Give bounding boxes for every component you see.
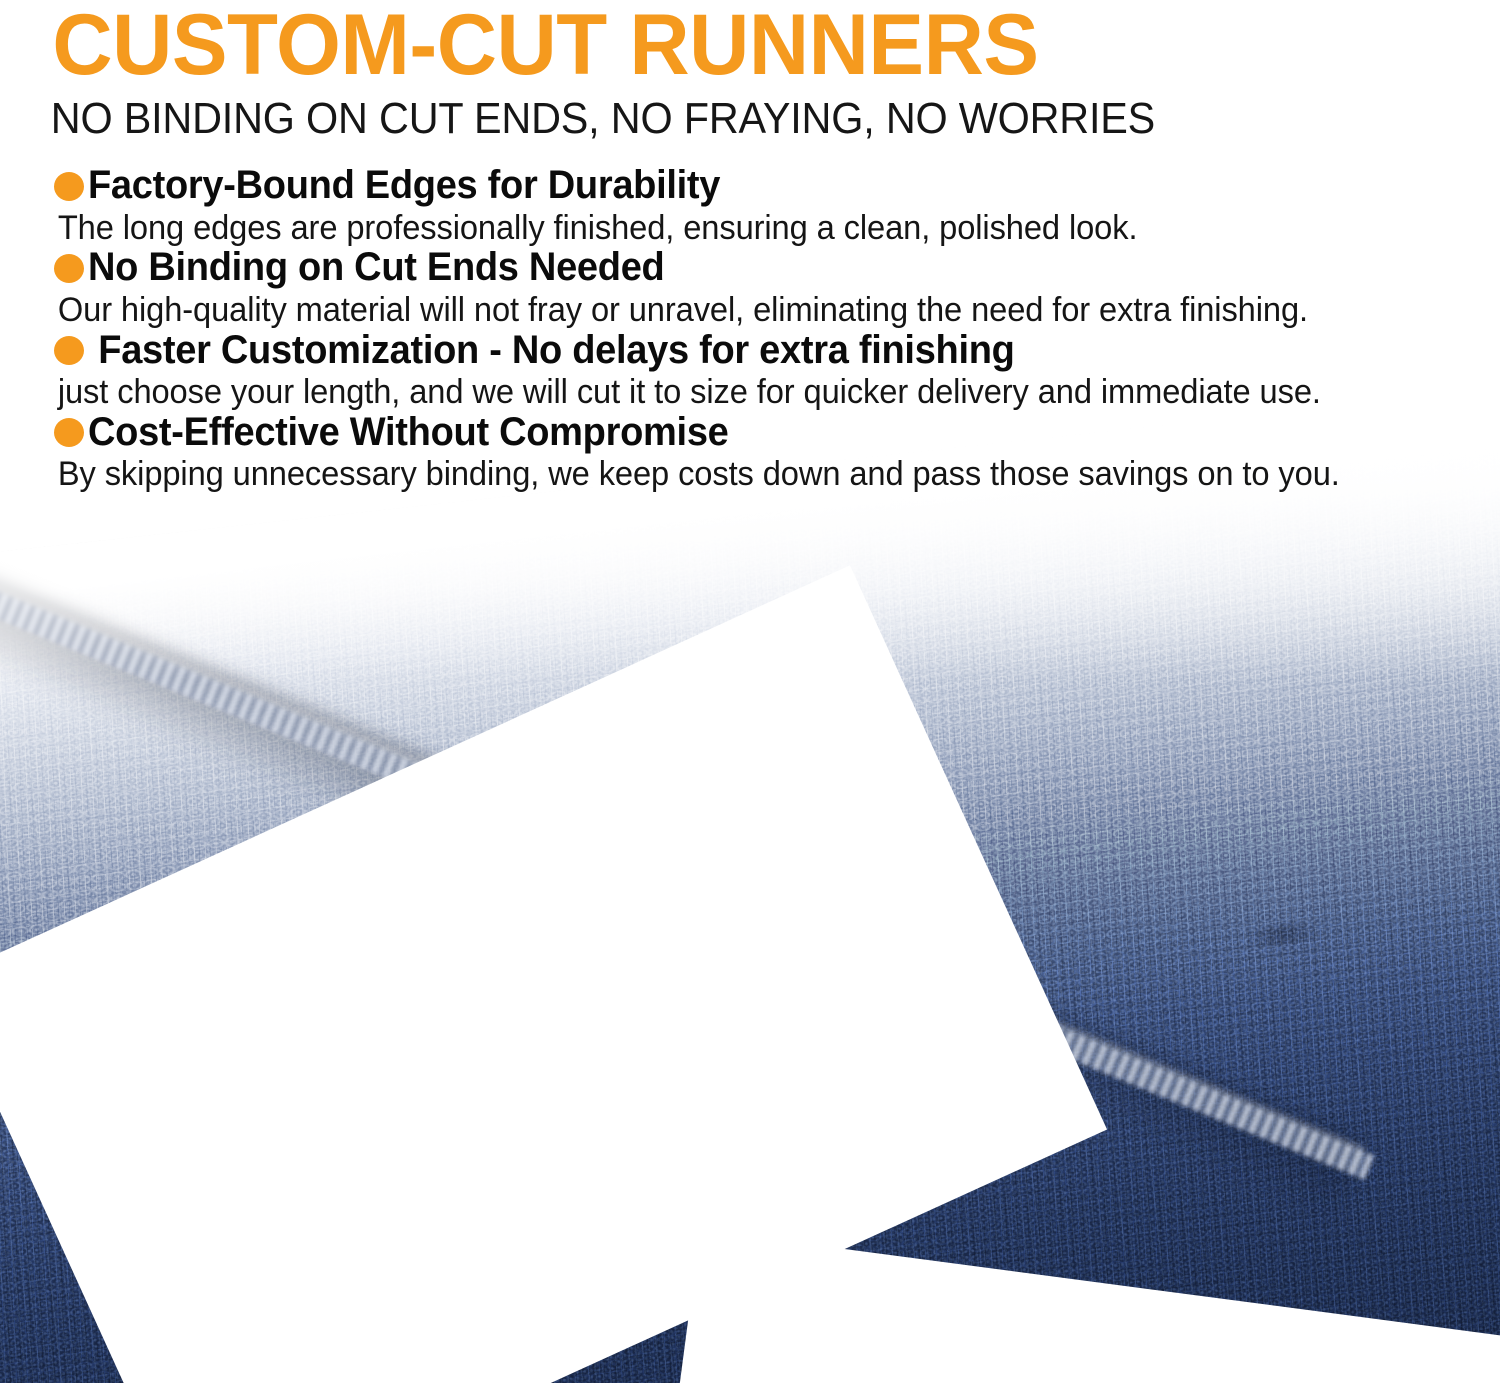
page-title: CUSTOM-CUT RUNNERS [0, 0, 1455, 87]
feature-description: The long edges are professionally finish… [54, 207, 1442, 247]
feature-heading: No Binding on Cut Ends Needed [54, 246, 1500, 288]
feature-heading: Cost-Effective Without Compromise [54, 411, 1500, 453]
list-item: Faster Customization - No delays for ext… [0, 329, 1500, 411]
list-item: No Binding on Cut Ends Needed Our high-q… [0, 246, 1500, 328]
list-item: Factory-Bound Edges for Durability The l… [0, 164, 1500, 246]
feature-title: No Binding on Cut Ends Needed [88, 246, 664, 288]
list-item: Cost-Effective Without Compromise By ski… [0, 411, 1500, 493]
feature-title: Cost-Effective Without Compromise [88, 411, 729, 453]
product-feature-graphic: CUSTOM-CUT RUNNERS NO BINDING ON CUT END… [0, 0, 1500, 1383]
feature-title: Factory-Bound Edges for Durability [88, 164, 720, 206]
feature-heading: Faster Customization - No delays for ext… [54, 329, 1500, 371]
feature-list: Factory-Bound Edges for Durability The l… [0, 142, 1500, 492]
feature-description: Our high-quality material will not fray … [54, 289, 1442, 329]
orange-dot-icon [54, 336, 84, 365]
feature-heading: Factory-Bound Edges for Durability [54, 164, 1500, 206]
feature-description: just choose your length, and we will cut… [54, 371, 1442, 411]
feature-description: By skipping unnecessary binding, we keep… [54, 453, 1442, 493]
page-subtitle: NO BINDING ON CUT ENDS, NO FRAYING, NO W… [0, 87, 1410, 142]
orange-dot-icon [54, 254, 84, 283]
orange-dot-icon [54, 172, 84, 201]
feature-title: Faster Customization - No delays for ext… [88, 329, 1015, 371]
marketing-copy: CUSTOM-CUT RUNNERS NO BINDING ON CUT END… [0, 0, 1500, 493]
orange-dot-icon [54, 418, 84, 447]
